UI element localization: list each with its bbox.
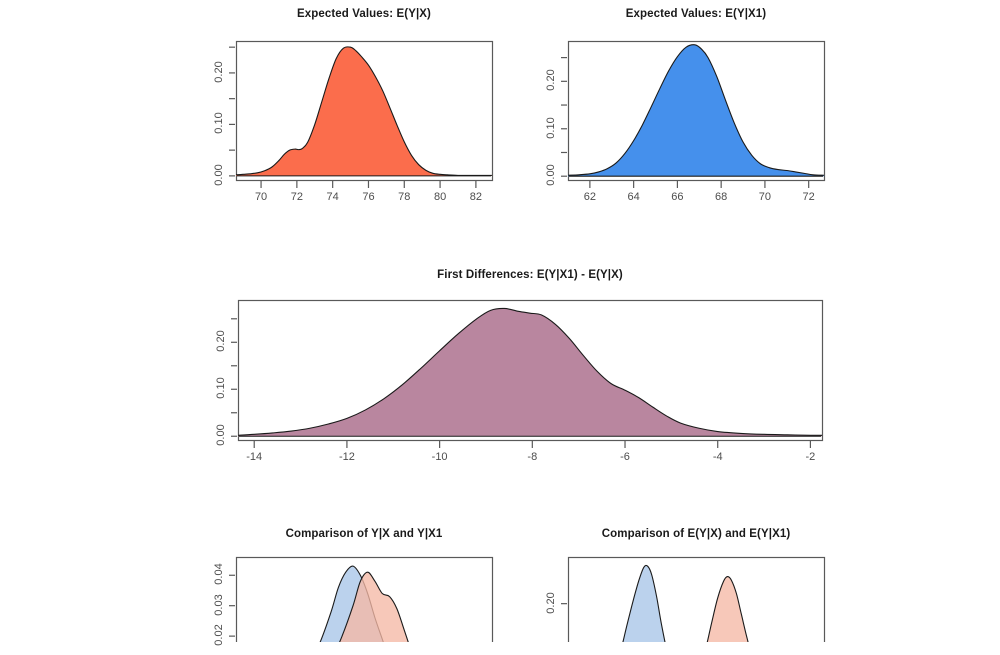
density-area xyxy=(681,577,784,642)
panel-title-first-differences: First Differences: E(Y|X1) - E(Y|X) xyxy=(330,269,730,281)
x-tick-label: -6 xyxy=(595,451,655,463)
y-tick-label: 0.00 xyxy=(545,155,557,195)
x-tick-label: 72 xyxy=(779,191,839,203)
panel-expected-values-yx1 xyxy=(561,42,825,189)
panel-first-differences xyxy=(231,301,823,449)
x-tick-label: -10 xyxy=(410,451,470,463)
panel-comparison-yx-yx1 xyxy=(229,558,493,643)
density-area xyxy=(238,308,822,436)
y-tick-label: 0.20 xyxy=(545,60,557,100)
panel-title-expected-values-yx: Expected Values: E(Y|X) xyxy=(214,8,514,20)
y-tick-label: 0.20 xyxy=(213,52,225,92)
y-tick-label: 0.00 xyxy=(213,155,225,195)
density-area xyxy=(593,565,696,642)
x-tick-label: -8 xyxy=(502,451,562,463)
x-tick-label: -4 xyxy=(688,451,748,463)
density-area xyxy=(568,45,824,176)
panel-expected-values-yx xyxy=(229,42,493,189)
panel-title-expected-values-yx1: Expected Values: E(Y|X1) xyxy=(546,8,846,20)
y-tick-label: 0.10 xyxy=(545,108,557,148)
x-tick-label: -12 xyxy=(317,451,377,463)
y-tick-label: 0.20 xyxy=(215,321,227,361)
panel-title-comparison-eyx-eyx1: Comparison of E(Y|X) and E(Y|X1) xyxy=(546,528,846,540)
y-tick-label: 0.00 xyxy=(215,415,227,455)
y-tick-label: 0.10 xyxy=(213,103,225,143)
x-tick-label: 82 xyxy=(446,191,506,203)
y-tick-label: 0.20 xyxy=(545,583,557,623)
y-tick-label: 0.10 xyxy=(215,368,227,408)
panel-comparison-eyx-eyx1 xyxy=(561,558,825,643)
y-tick-label: 0.02 xyxy=(213,615,225,655)
r-plot-canvas xyxy=(0,0,1000,642)
density-area xyxy=(236,47,492,176)
x-tick-label: -14 xyxy=(224,451,284,463)
panel-title-comparison-yx-yx1: Comparison of Y|X and Y|X1 xyxy=(214,528,514,540)
x-tick-label: -2 xyxy=(780,451,840,463)
